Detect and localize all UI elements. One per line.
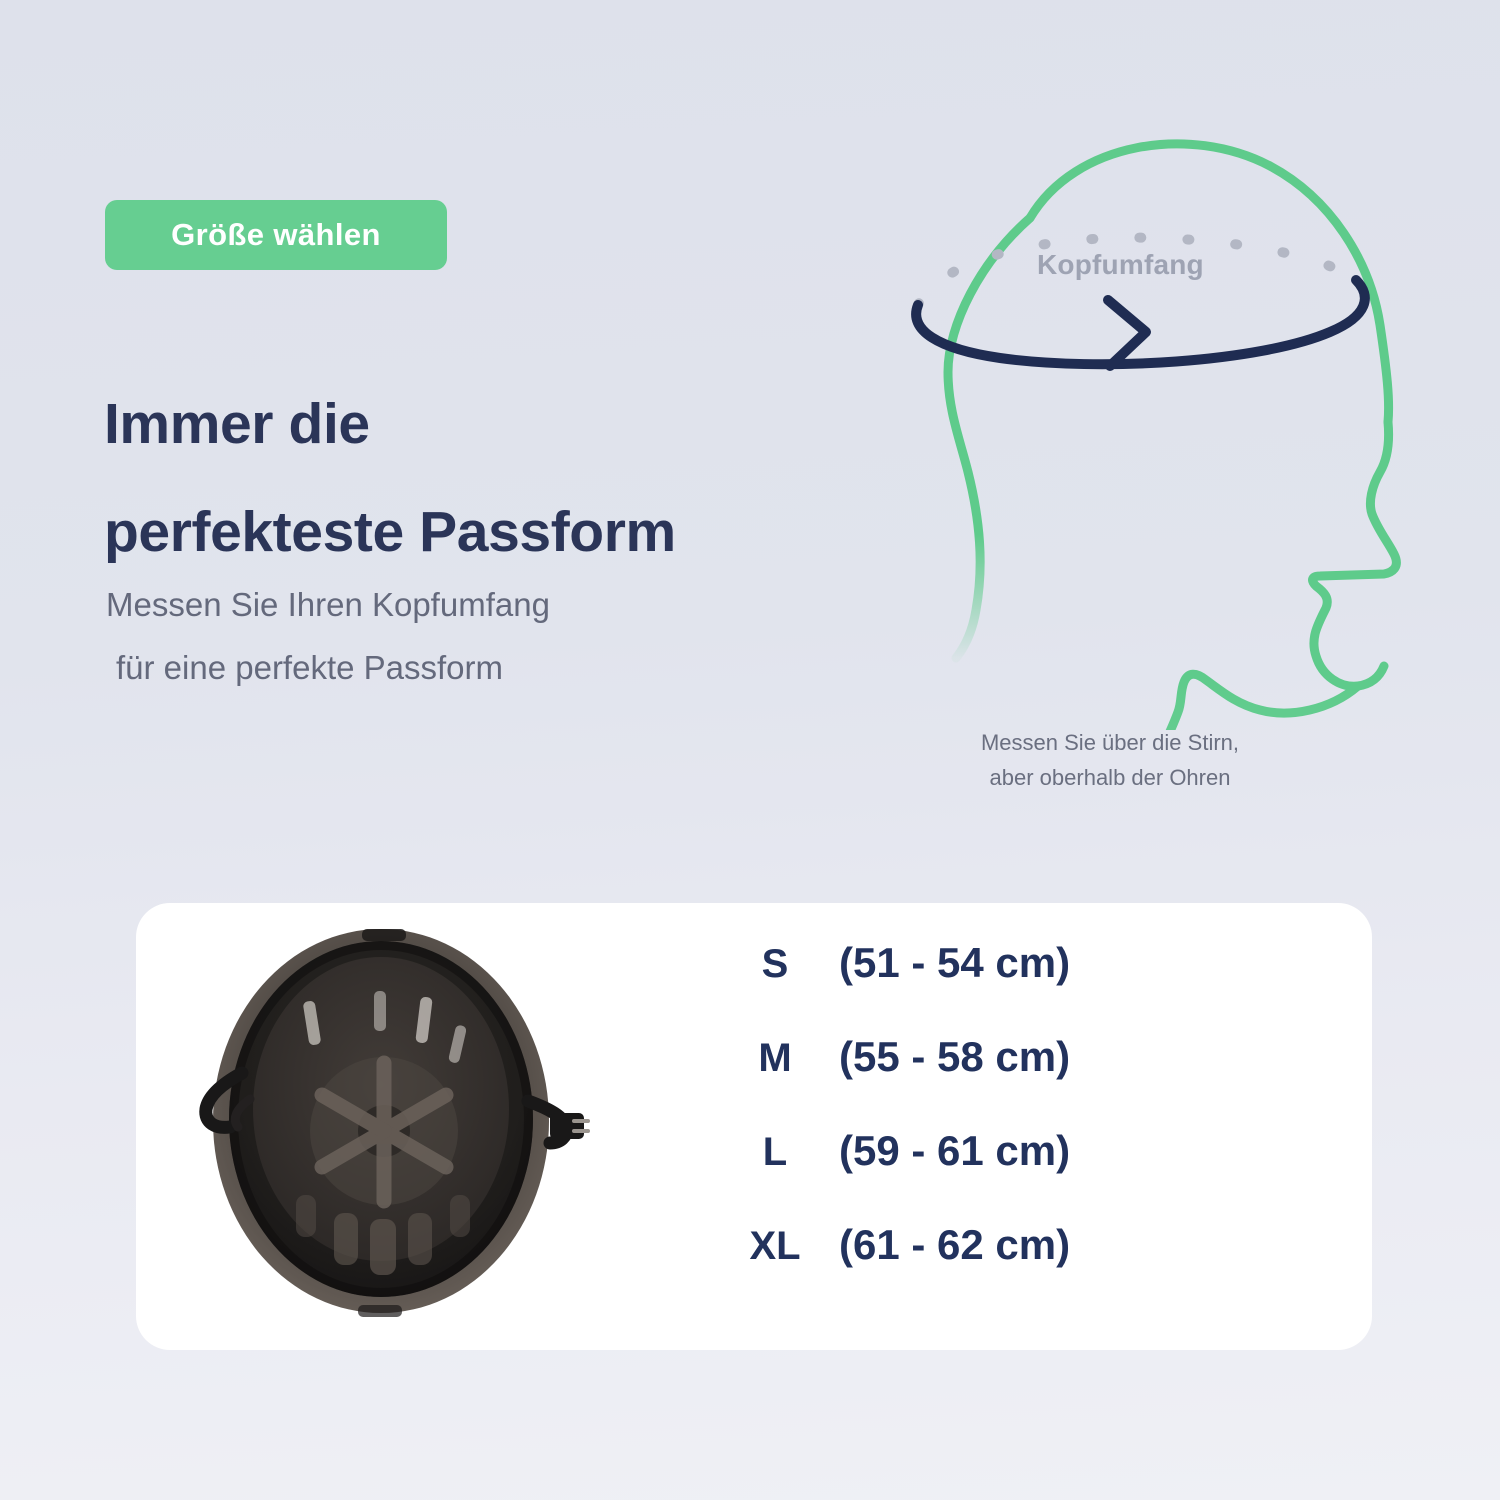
page-subtitle-line-1: Messen Sie Ihren Kopfumfang	[106, 573, 866, 636]
table-row[interactable]: L (59 - 61 cm)	[711, 1127, 1311, 1221]
table-row[interactable]: M (55 - 58 cm)	[711, 1033, 1311, 1127]
badge-label: Größe wählen	[171, 217, 381, 253]
size-chart-card: S (51 - 54 cm) M (55 - 58 cm) L (59 - 61…	[136, 903, 1372, 1350]
table-row[interactable]: S (51 - 54 cm)	[711, 939, 1311, 1033]
helmet-inside-icon	[146, 913, 616, 1340]
measurement-caption-line-2: aber oberhalb der Ohren	[860, 760, 1360, 795]
size-range: (59 - 61 cm)	[839, 1127, 1070, 1175]
size-guide-page: Größe wählen Immer die perfekteste Passf…	[0, 0, 1500, 1500]
table-row[interactable]: XL (61 - 62 cm)	[711, 1221, 1311, 1315]
measurement-caption-line-1: Messen Sie über die Stirn,	[860, 725, 1360, 760]
size-selector-badge[interactable]: Größe wählen	[105, 200, 447, 270]
size-label: XL	[711, 1224, 839, 1269]
size-label: S	[711, 942, 839, 987]
measurement-caption: Messen Sie über die Stirn, aber oberhalb…	[860, 725, 1360, 795]
page-title: Immer die perfekteste Passform	[104, 370, 864, 586]
helmet-product-image	[146, 913, 616, 1340]
size-label: L	[711, 1130, 839, 1175]
page-title-line-1: Immer die	[104, 370, 864, 478]
kopfumfang-label: Kopfumfang	[1037, 249, 1204, 281]
page-title-line-2: perfekteste Passform	[104, 478, 864, 586]
head-measurement-illustration	[860, 110, 1420, 730]
page-subtitle: Messen Sie Ihren Kopfumfang für eine per…	[106, 573, 866, 699]
size-table: S (51 - 54 cm) M (55 - 58 cm) L (59 - 61…	[711, 939, 1311, 1315]
size-range: (55 - 58 cm)	[839, 1033, 1070, 1081]
size-range: (51 - 54 cm)	[839, 939, 1070, 987]
head-profile-icon	[860, 110, 1420, 730]
size-label: M	[711, 1036, 839, 1081]
size-range: (61 - 62 cm)	[839, 1221, 1070, 1269]
page-subtitle-line-2: für eine perfekte Passform	[106, 636, 866, 699]
